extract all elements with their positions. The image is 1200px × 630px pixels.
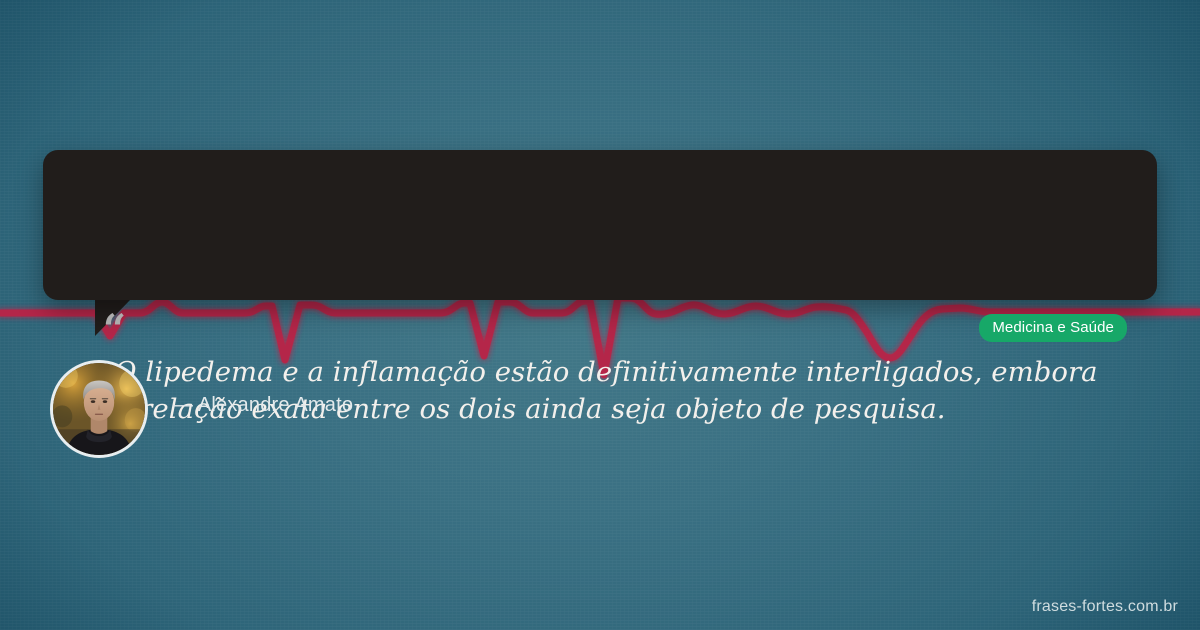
category-badge[interactable]: Medicina e Saúde [979,314,1127,342]
avatar [50,360,148,458]
author-portrait [53,363,145,455]
quote-open-icon: “ [103,310,125,350]
quote-card-image: “ O lipedema e a inflamação estão defini… [0,0,1200,630]
site-watermark: frases-fortes.com.br [1032,598,1178,616]
quote-card: “ O lipedema e a inflamação estão defini… [43,150,1157,300]
author-name: — Alexandre Amato [173,394,353,417]
